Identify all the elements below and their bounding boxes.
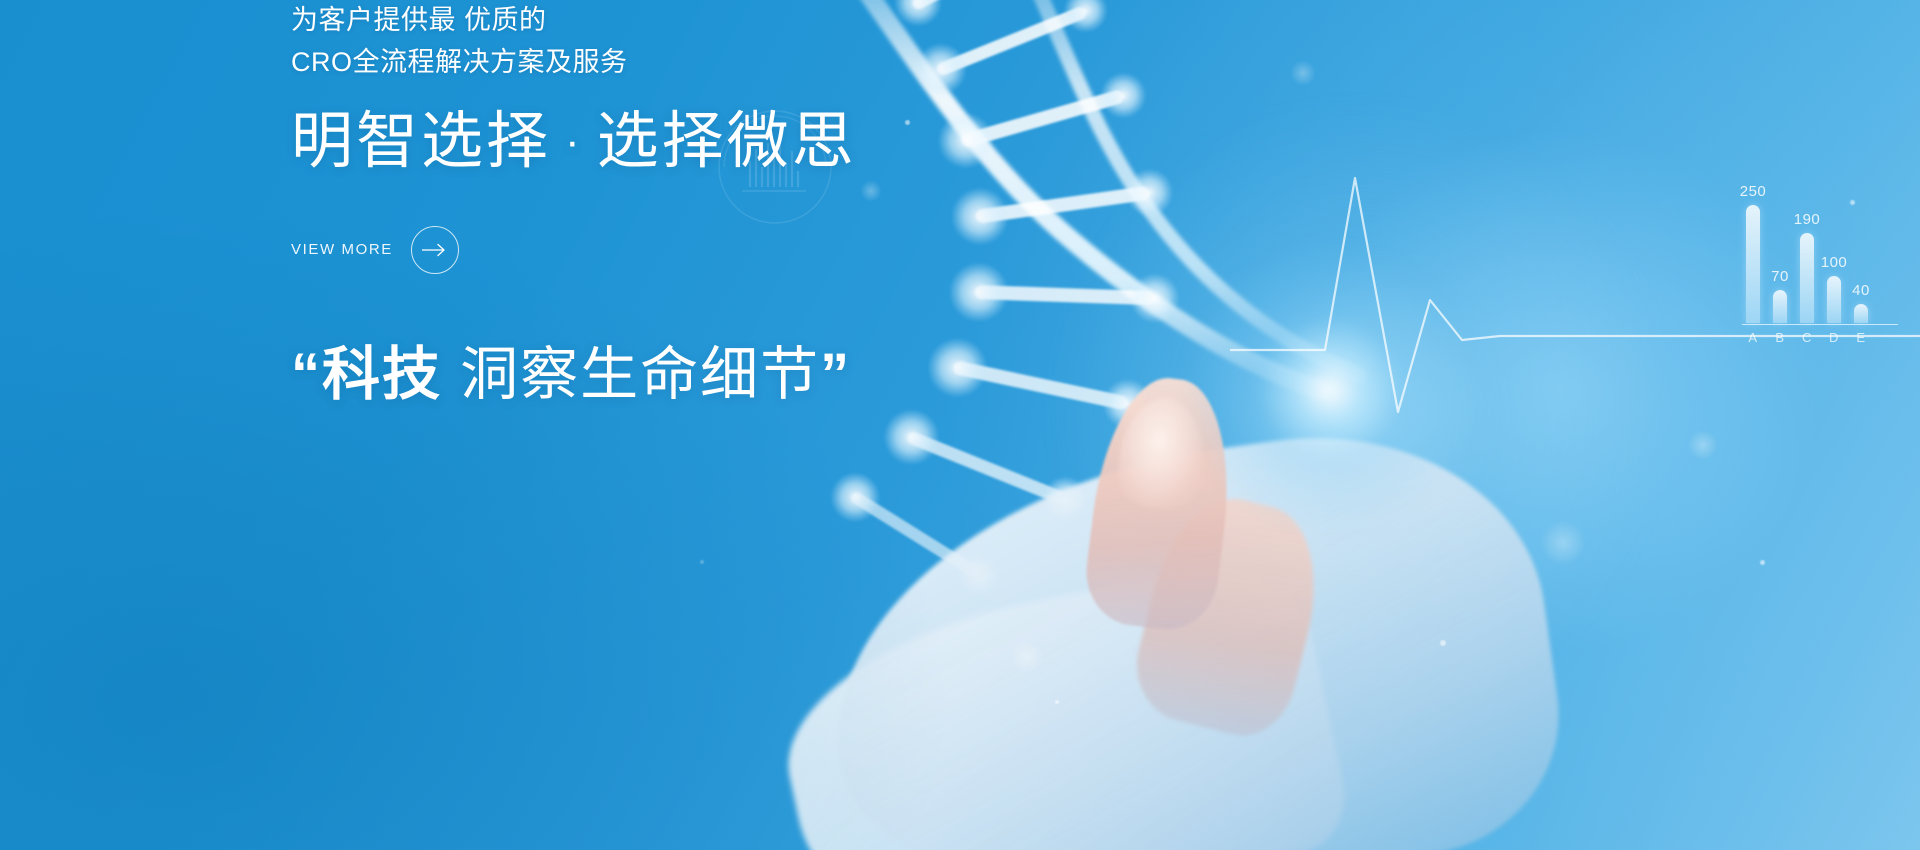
quote-emphasis: 科技 xyxy=(322,342,442,407)
bar-category-label: B xyxy=(1773,330,1787,345)
bar-value-label: 70 xyxy=(1771,268,1789,285)
bar-chart-category-labels: ABCDE xyxy=(1742,330,1898,345)
arrow-right-icon[interactable] xyxy=(411,226,459,274)
bokeh-dot xyxy=(1440,640,1446,646)
bar-column: 70 xyxy=(1773,183,1787,323)
headline-part-1: 明智选择 xyxy=(291,107,551,176)
view-more-label: VIEW MORE xyxy=(291,241,393,258)
arrow-right-svg xyxy=(422,243,448,257)
headline-part-2: 选择微思 xyxy=(597,107,857,176)
view-more-button[interactable]: VIEW MORE xyxy=(291,226,436,274)
bar-category-label: C xyxy=(1800,330,1814,345)
bar xyxy=(1854,304,1868,323)
bokeh-particle xyxy=(1688,430,1718,460)
bokeh-dot xyxy=(1055,700,1059,704)
bar-chart-plot: 2507019010040 xyxy=(1742,183,1898,323)
hero-banner: 为客户提供最 优质的 CRO全流程解决方案及服务 明智选择·选择微思 VIEW … xyxy=(0,0,1920,850)
hero-content: 为客户提供最 优质的 CRO全流程解决方案及服务 明智选择·选择微思 VIEW … xyxy=(291,0,991,850)
bar-category-label: E xyxy=(1854,330,1868,345)
bar-column: 250 xyxy=(1746,183,1760,323)
bar-column: 190 xyxy=(1800,183,1814,323)
bar xyxy=(1773,290,1787,323)
bar xyxy=(1800,233,1814,323)
headline-separator: · xyxy=(551,117,597,166)
hero-subtitle-line-2: CRO全流程解决方案及服务 xyxy=(291,42,991,84)
bar-chart: 2507019010040 ABCDE xyxy=(1742,160,1902,345)
bokeh-dot xyxy=(1760,560,1765,565)
quote-close-mark: ” xyxy=(820,342,851,407)
bar-value-label: 190 xyxy=(1794,211,1821,228)
quote-rest: 洞察生命细节 xyxy=(442,342,820,407)
bar-value-label: 40 xyxy=(1852,282,1870,299)
hero-quote: “科技 洞察生命细节” xyxy=(291,340,991,410)
bokeh-particle xyxy=(1540,520,1586,566)
bar xyxy=(1827,276,1841,323)
bokeh-particle xyxy=(1290,60,1316,86)
bar-value-label: 250 xyxy=(1740,183,1767,200)
bar-category-label: A xyxy=(1746,330,1760,345)
quote-open-mark: “ xyxy=(291,342,322,407)
hero-headline: 明智选择·选择微思 xyxy=(291,106,991,178)
bar-category-label: D xyxy=(1827,330,1841,345)
hero-subtitle: 为客户提供最 优质的 CRO全流程解决方案及服务 xyxy=(291,0,991,84)
bar-column: 100 xyxy=(1827,183,1841,323)
hero-subtitle-line-1: 为客户提供最 优质的 xyxy=(291,0,991,42)
bokeh-particle xyxy=(1010,640,1044,674)
bar-chart-axis-line xyxy=(1742,324,1898,325)
bar-value-label: 100 xyxy=(1821,254,1848,271)
bar xyxy=(1746,205,1760,323)
bar-column: 40 xyxy=(1854,183,1868,323)
